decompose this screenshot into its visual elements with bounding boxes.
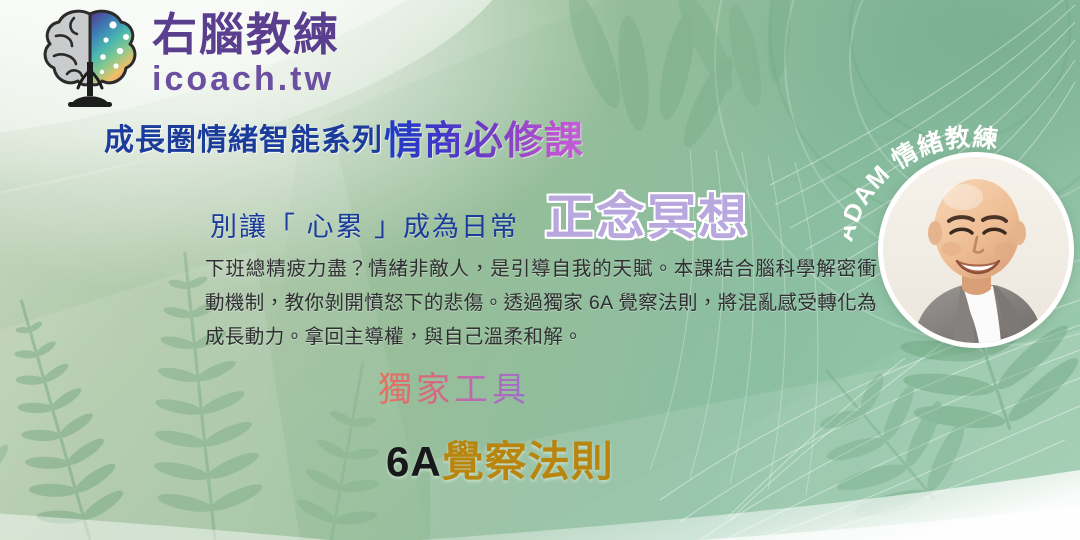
coach-portrait (883, 157, 1069, 343)
exclusive-tool-label: 獨家工具 (378, 362, 530, 411)
method-name-cn: 覺察法則 (442, 438, 614, 485)
body-copy: 下班總精疲力盡？情緒非敵人，是引導自我的天賦。本課結合腦科學解密衝動機制，教你剝… (205, 252, 877, 354)
promo-banner: 右腦教練 icoach.tw 成長圈情緒智能系列 情商必修課 正念冥想 別讓「 … (0, 0, 1080, 540)
brand-logo[interactable]: 右腦教練 icoach.tw (34, 4, 394, 112)
brand-wordmark: 右腦教練 icoach.tw (152, 10, 392, 106)
coach-photo-ring (878, 152, 1074, 348)
method-name: 6A覺察法則 (386, 428, 614, 489)
brand-name-cn: 右腦教練 (152, 10, 392, 60)
method-number: 6A (386, 438, 442, 485)
coach-block: ADAM 情緒教練 (862, 128, 1080, 356)
course-title: 情商必修課 (384, 110, 584, 166)
mindfulness-title: 正念冥想 (545, 178, 749, 249)
brain-tree-logo-icon (34, 4, 146, 110)
brand-name-en: icoach.tw (152, 60, 392, 98)
series-label: 成長圈情緒智能系列 (104, 115, 383, 159)
tagline: 別讓「 心累 」成為日常 (210, 205, 519, 244)
